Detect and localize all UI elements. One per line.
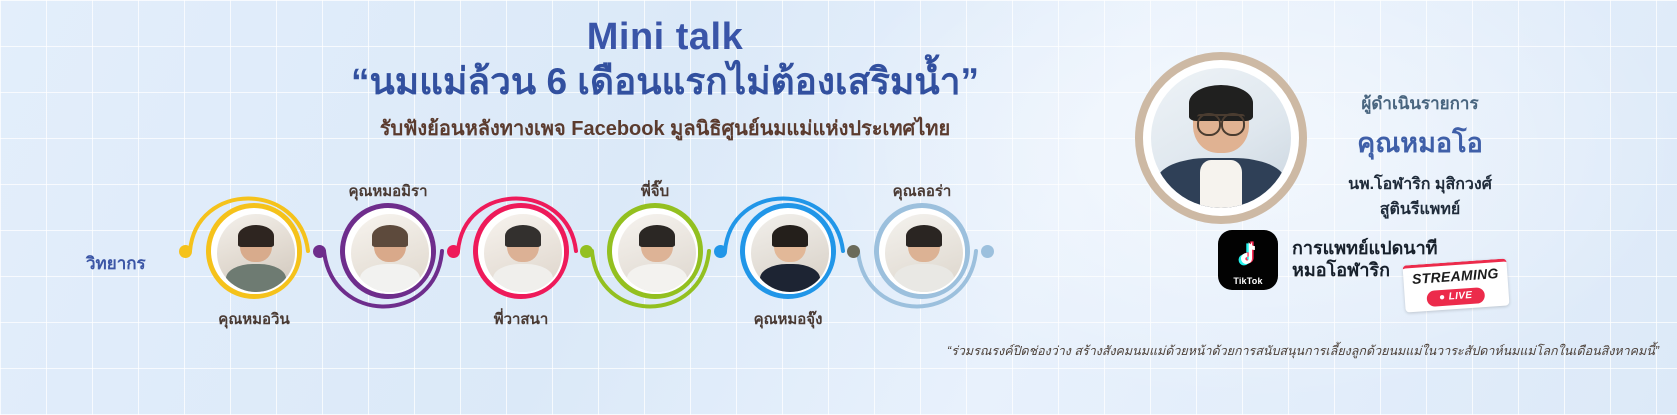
connector-dot <box>714 245 727 258</box>
avatar <box>616 212 698 294</box>
connector-dot <box>981 245 994 258</box>
music-note-icon <box>1232 240 1264 274</box>
speaker-card[interactable]: พี่จิ๊บ <box>607 203 703 299</box>
speakers-timeline: วิทยากร คุณหมอวิน <box>0 175 1060 345</box>
headline-subtitle: รับฟังย้อนหลังทางเพจ Facebook มูลนิธิศูน… <box>250 117 1080 141</box>
avatar <box>349 212 431 294</box>
host-info: ผู้ดำเนินรายการ คุณหมอโอ นพ.โอฬาริก มุสิ… <box>1290 90 1550 222</box>
speaker-name: คุณลอร่า <box>840 179 1004 203</box>
tiktok-icon[interactable]: TikTok <box>1218 230 1278 290</box>
headline-block: Mini talk “นมแม่ล้วน 6 เดือนแรกไม่ต้องเส… <box>250 16 1080 141</box>
tiktok-label: TikTok <box>1218 276 1278 286</box>
host-specialty: สูตินรีแพทย์ <box>1290 197 1550 222</box>
avatar <box>482 212 564 294</box>
glasses-icon <box>1197 114 1245 129</box>
connector-dot <box>179 245 192 258</box>
host-avatar <box>1151 68 1291 208</box>
speaker-card[interactable]: พี่วาสนา <box>473 203 569 299</box>
speaker-name: คุณหมอมิรา <box>306 179 470 203</box>
footer-note: “ร่วมรณรงค์ปิดช่องว่าง สร้างสังคมนมแม่ด้… <box>840 341 1659 361</box>
speaker-card[interactable]: คุณลอร่า <box>874 203 970 299</box>
connector-dot <box>313 245 326 258</box>
channel-line-1: การแพทย์แปดนาที <box>1292 238 1438 260</box>
avatar <box>215 212 297 294</box>
streaming-badge: STREAMING ● LIVE <box>1402 258 1509 312</box>
speaker-name: คุณหมอวิน <box>172 307 336 331</box>
live-badge: ● LIVE <box>1426 287 1485 307</box>
connector-dot <box>580 245 593 258</box>
promo-banner: Mini talk “นมแม่ล้วน 6 เดือนแรกไม่ต้องเส… <box>0 0 1677 415</box>
host-full-name: นพ.โอฬาริก มุสิกวงศ์ <box>1290 172 1550 197</box>
avatar <box>749 212 831 294</box>
speakers-section-label: วิทยากร <box>86 250 146 277</box>
speaker-name: พี่จิ๊บ <box>573 179 737 203</box>
speaker-name: พี่วาสนา <box>439 307 603 331</box>
host-name: คุณหมอโอ <box>1290 121 1550 164</box>
headline-quote: “นมแม่ล้วน 6 เดือนแรกไม่ต้องเสริมน้ำ” <box>250 61 1080 104</box>
speaker-card[interactable]: คุณหมอวิน <box>206 203 302 299</box>
connector-dot <box>847 245 860 258</box>
speaker-card[interactable]: คุณหมอมิรา <box>340 203 436 299</box>
speaker-card[interactable]: คุณหมอจุ๊ง <box>740 203 836 299</box>
connector-dot <box>447 245 460 258</box>
speaker-name: คุณหมอจุ๊ง <box>706 307 870 331</box>
page-title: Mini talk <box>250 16 1080 59</box>
host-role: ผู้ดำเนินรายการ <box>1290 90 1550 117</box>
host-ring <box>1135 52 1307 224</box>
avatar <box>883 212 965 294</box>
streaming-label: STREAMING <box>1403 264 1508 287</box>
